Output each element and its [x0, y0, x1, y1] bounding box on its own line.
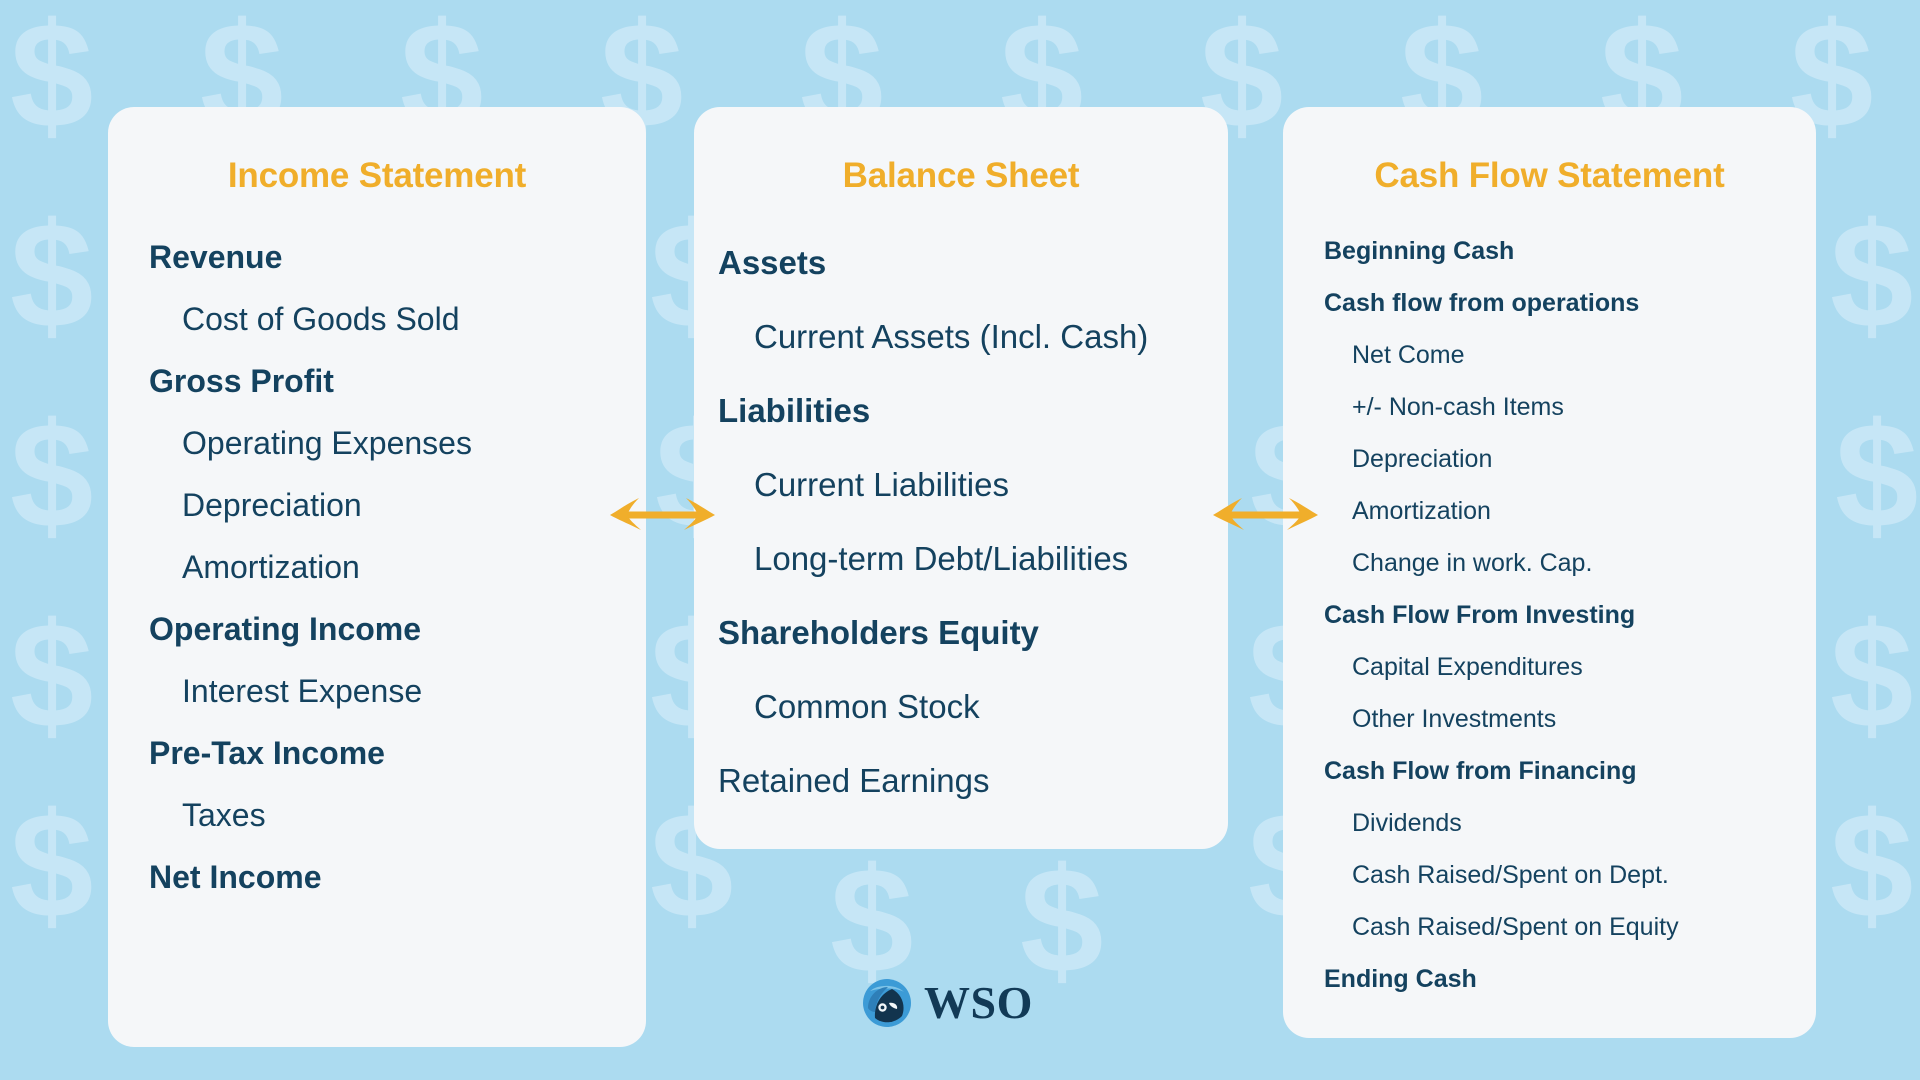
statement-line-item: +/- Non-cash Items: [1324, 381, 1816, 433]
statement-line-item: Operating Expenses: [149, 412, 646, 474]
statement-line-item: Taxes: [149, 784, 646, 846]
statement-line-item: Amortization: [1324, 485, 1816, 537]
statement-line-item: Beginning Cash: [1324, 225, 1816, 277]
statement-line-item: Assets: [718, 226, 1228, 300]
statement-line-item: Other Investments: [1324, 693, 1816, 745]
statement-line-item: Depreciation: [1324, 433, 1816, 485]
wso-logo-text: WSO: [924, 980, 1033, 1026]
card-title-balance-sheet: Balance Sheet: [694, 156, 1228, 196]
statement-line-item: Long-term Debt/Liabilities: [718, 522, 1228, 596]
statement-line-item: Depreciation: [149, 474, 646, 536]
statement-line-item: Cash Flow from Financing: [1324, 745, 1816, 797]
statements-board: Income Statement RevenueCost of Goods So…: [0, 0, 1920, 1080]
statement-line-item: Operating Income: [149, 598, 646, 660]
statement-line-item: Liabilities: [718, 374, 1228, 448]
statement-line-item: Revenue: [149, 226, 646, 288]
statement-line-item: Change in work. Cap.: [1324, 537, 1816, 589]
statement-line-item: Amortization: [149, 536, 646, 598]
statement-line-item: Common Stock: [718, 670, 1228, 744]
statement-line-item: Dividends: [1324, 797, 1816, 849]
statement-line-item: Shareholders Equity: [718, 596, 1228, 670]
wso-logo: WSO: [862, 978, 1033, 1028]
card-title-cash-flow-statement: Cash Flow Statement: [1283, 156, 1816, 196]
statement-line-item: Cash Raised/Spent on Dept.: [1324, 849, 1816, 901]
statement-line-item: Net Income: [149, 846, 646, 908]
double-headed-arrow-icon-left: [605, 492, 720, 538]
card-cash-flow-statement: Cash Flow Statement Beginning CashCash f…: [1283, 107, 1816, 1038]
wso-globe-icon: [862, 978, 912, 1028]
statement-line-item: Current Liabilities: [718, 448, 1228, 522]
statement-line-item: Cash flow from operations: [1324, 277, 1816, 329]
statement-line-item: Net Come: [1324, 329, 1816, 381]
card-title-income-statement: Income Statement: [108, 156, 646, 196]
double-headed-arrow-icon-right: [1208, 492, 1323, 538]
line-item-list-income-statement: RevenueCost of Goods SoldGross ProfitOpe…: [108, 226, 646, 908]
line-item-list-balance-sheet: AssetsCurrent Assets (Incl. Cash)Liabili…: [694, 226, 1228, 818]
card-income-statement: Income Statement RevenueCost of Goods So…: [108, 107, 646, 1047]
statement-line-item: Cash Raised/Spent on Equity: [1324, 901, 1816, 953]
statement-line-item: Gross Profit: [149, 350, 646, 412]
statement-line-item: Cash Flow From Investing: [1324, 589, 1816, 641]
statement-line-item: Retained Earnings: [718, 744, 1228, 818]
card-balance-sheet: Balance Sheet AssetsCurrent Assets (Incl…: [694, 107, 1228, 849]
statement-line-item: Cost of Goods Sold: [149, 288, 646, 350]
line-item-list-cash-flow-statement: Beginning CashCash flow from operationsN…: [1283, 225, 1816, 1005]
statement-line-item: Interest Expense: [149, 660, 646, 722]
statement-line-item: Ending Cash: [1324, 953, 1816, 1005]
statement-line-item: Pre-Tax Income: [149, 722, 646, 784]
statement-line-item: Capital Expenditures: [1324, 641, 1816, 693]
statement-line-item: Current Assets (Incl. Cash): [718, 300, 1228, 374]
